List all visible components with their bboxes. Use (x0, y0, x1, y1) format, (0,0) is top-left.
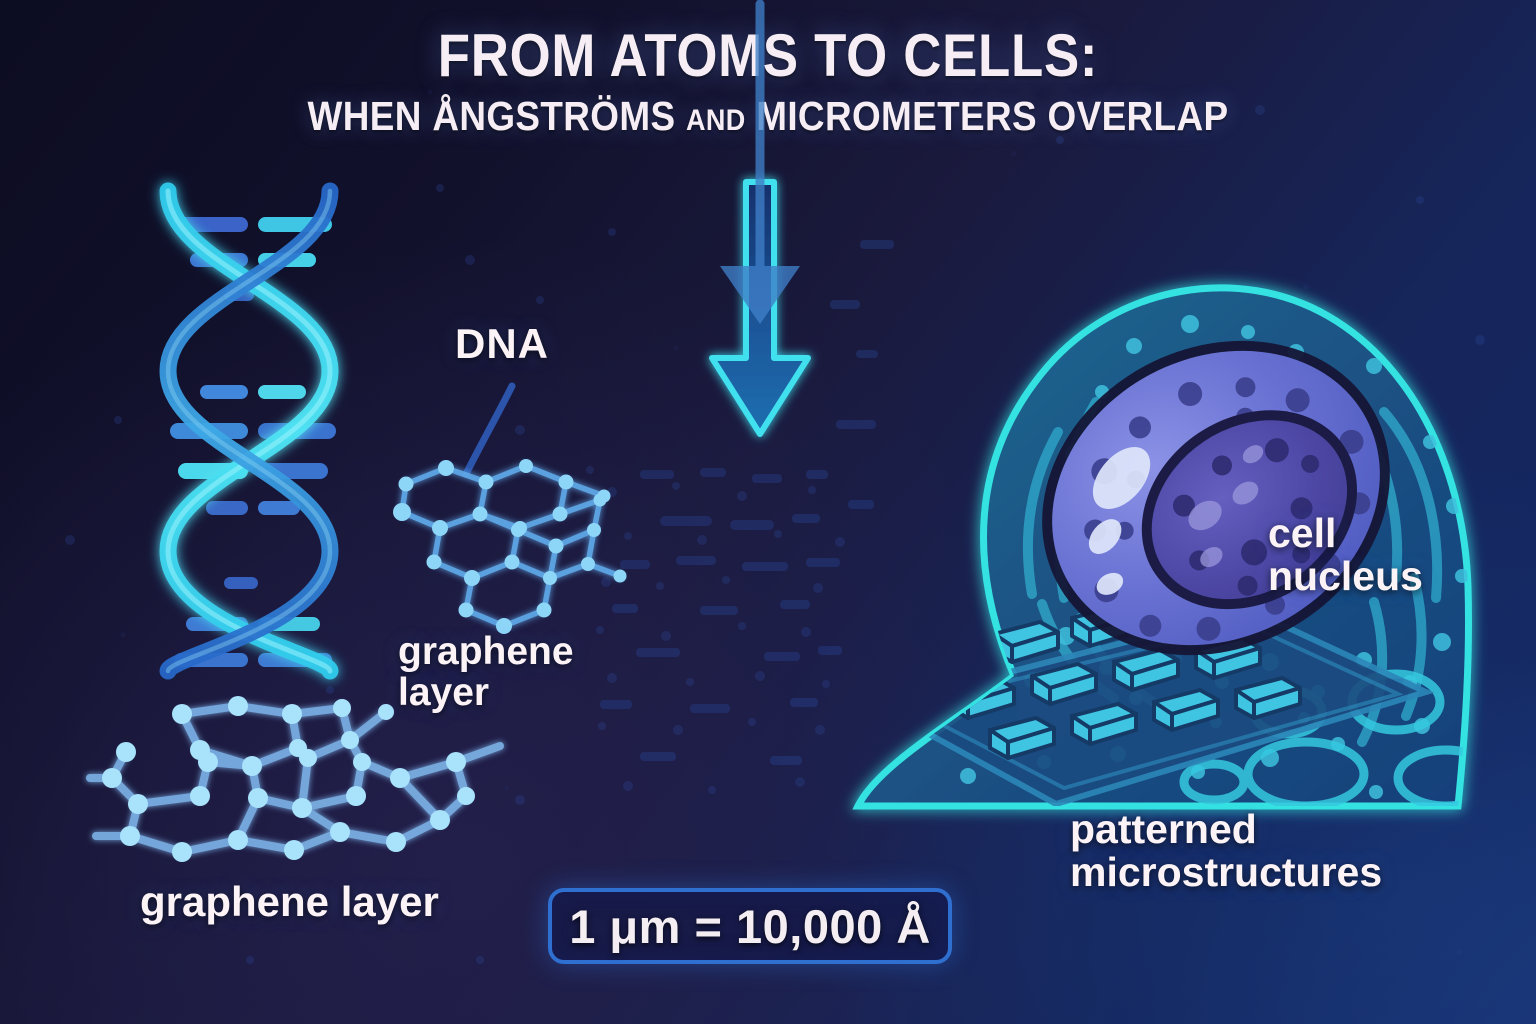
dna-helix-icon (120, 185, 390, 675)
label-graphene-small: graphene layer (398, 632, 574, 714)
equation-text: 1 μm = 10,000 Å (569, 899, 931, 954)
graphene-lattice-large-icon (70, 700, 540, 875)
label-microstructures: patterned microstructures (1070, 808, 1382, 894)
label-cell-nucleus: cell nucleus (1268, 512, 1423, 598)
graphene-atoms-large (102, 696, 475, 862)
graphene-lattice-small-icon (388, 440, 638, 640)
label-graphene-large: graphene layer (140, 880, 439, 924)
infographic-canvas: FROM ATOMS TO CELLS: WHEN ÅNGSTRÖMS AND … (0, 0, 1536, 1024)
arrow-down-thin-icon (700, 0, 820, 330)
subtitle-part-1: WHEN ÅNGSTRÖMS (308, 93, 686, 139)
equation-badge: 1 μm = 10,000 Å (548, 888, 952, 964)
label-dna: DNA (455, 322, 549, 366)
